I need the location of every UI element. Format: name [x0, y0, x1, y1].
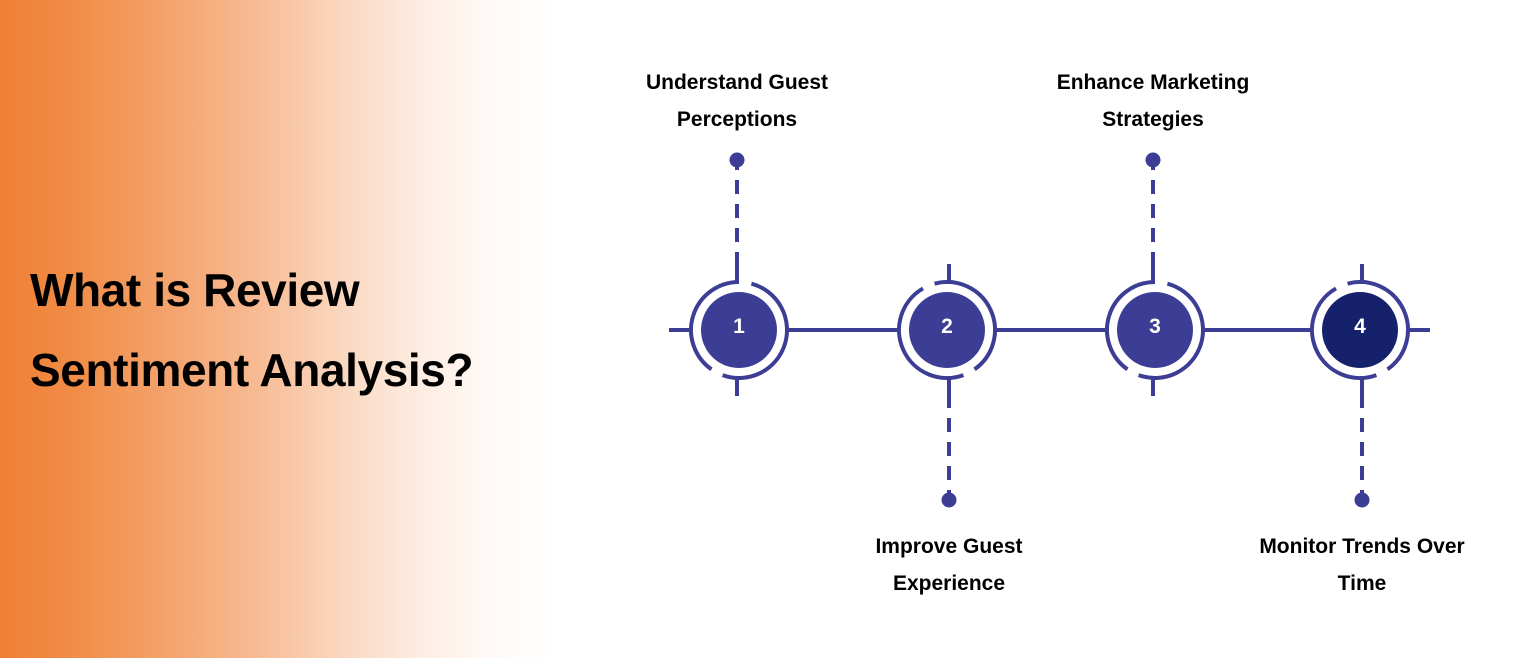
callout-dot-1 — [730, 153, 745, 168]
callout-dot-3 — [1146, 153, 1161, 168]
step-node-circle-2[interactable] — [909, 292, 985, 368]
step-label-2: Improve Guest Experience — [799, 528, 1099, 602]
step-label-1: Understand Guest Perceptions — [587, 64, 887, 138]
step-label-4: Monitor Trends Over Time — [1212, 528, 1512, 602]
callout-dot-2 — [942, 493, 957, 508]
step-node-circle-4[interactable] — [1322, 292, 1398, 368]
slide-canvas: What is Review Sentiment Analysis? 1Unde… — [0, 0, 1536, 658]
step-node-circle-3[interactable] — [1117, 292, 1193, 368]
step-label-3: Enhance Marketing Strategies — [1003, 64, 1303, 138]
callout-dot-4 — [1355, 493, 1370, 508]
step-node-circle-1[interactable] — [701, 292, 777, 368]
